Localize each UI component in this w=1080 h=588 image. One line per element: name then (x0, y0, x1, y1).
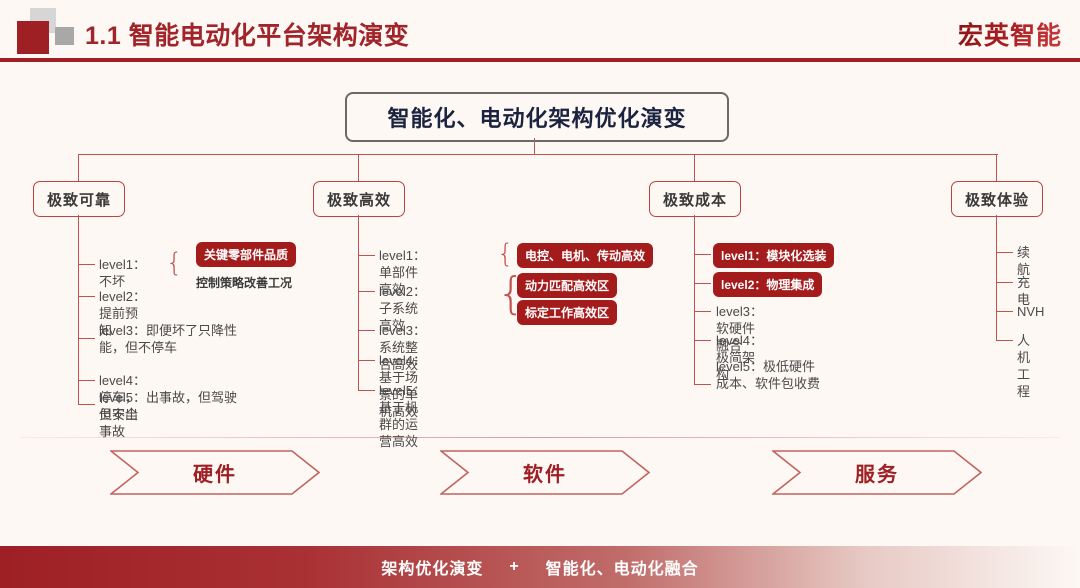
root-node: 智能化、电动化架构优化演变 (345, 92, 729, 142)
col3-tick-2 (694, 283, 711, 284)
col4-item-1: 续航 (1017, 244, 1030, 278)
chevron-software-label: 软件 (440, 450, 650, 495)
col3-stem (694, 215, 695, 241)
col3-spine (694, 241, 695, 385)
slide-header: 1.1 智能电动化平台架构演变 宏英智能 (0, 0, 1080, 62)
connector-drop-1 (78, 154, 79, 181)
col2-stem (358, 215, 359, 241)
col2-badge-2[interactable]: 动力匹配高效区 (517, 273, 617, 298)
category-box-4[interactable]: 极致体验 (951, 181, 1043, 217)
col4-spine (996, 241, 997, 341)
col1-item-3: level3：即便坏了只降性 能，但不停车 (99, 322, 249, 356)
col1-badge-1[interactable]: 关键零部件品质 (196, 242, 296, 267)
decor-square-red (17, 21, 49, 54)
chevron-hardware-label: 硬件 (110, 450, 320, 495)
col1-tick-3 (78, 338, 95, 339)
col1-item-1: level1：不坏 (99, 256, 146, 290)
page-title: 1.1 智能电动化平台架构演变 (85, 16, 409, 52)
col4-tick-1 (996, 252, 1013, 253)
col4-tick-2 (996, 282, 1013, 283)
slide-canvas: 1.1 智能电动化平台架构演变 宏英智能 智能化、电动化架构优化演变 极致可靠 … (0, 0, 1080, 588)
col4-tick-3 (996, 311, 1013, 312)
connector-drop-4 (996, 154, 997, 181)
chevron-hardware[interactable]: 硬件 (110, 450, 320, 495)
col2-tick-3 (358, 330, 375, 331)
slide-footer: 架构优化演变 + 智能化、电动化融合 (0, 546, 1080, 588)
header-divider (0, 58, 1080, 62)
section-divider (20, 437, 1060, 438)
col2-badge-1[interactable]: 电控、电机、传动高效 (517, 243, 653, 268)
chevron-software[interactable]: 软件 (440, 450, 650, 495)
col3-tick-3 (694, 311, 711, 312)
col3-item-3: level5：极低硬件 成本、软件包收费 (716, 358, 876, 392)
category-box-2[interactable]: 极致高效 (313, 181, 405, 217)
col3-badge-1[interactable]: level1：模块化选装 (713, 243, 834, 268)
col3-tick-5 (694, 384, 711, 385)
chevron-service[interactable]: 服务 (772, 450, 982, 495)
col2-brace-icon-1: { (497, 241, 514, 267)
connector-bus (78, 154, 998, 155)
col1-item-5: level5：出事故，但驾驶 员安全 (99, 389, 249, 423)
chevron-service-label: 服务 (772, 450, 982, 495)
connector-root-stem (534, 138, 535, 155)
col4-tick-4 (996, 340, 1013, 341)
connector-drop-3 (694, 154, 695, 181)
company-logo: 宏英智能 (958, 16, 1062, 52)
col2-item-5: level5：基于机群的运营高效 (379, 382, 426, 450)
col3-badge-2[interactable]: level2：物理集成 (713, 272, 822, 297)
col3-tick-1 (694, 254, 711, 255)
col3-tick-4 (694, 340, 711, 341)
footer-left-label: 架构优化演变 (381, 555, 483, 579)
col2-tick-4 (358, 360, 375, 361)
category-box-1[interactable]: 极致可靠 (33, 181, 125, 217)
col2-spine (358, 241, 359, 391)
category-box-3[interactable]: 极致成本 (649, 181, 741, 217)
col1-tick-4 (78, 380, 95, 381)
col2-tick-2 (358, 291, 375, 292)
col2-tick-1 (358, 255, 375, 256)
col4-item-4: 人机工程 (1017, 332, 1030, 400)
col1-stem (78, 215, 79, 241)
col1-tick-2 (78, 296, 95, 297)
col2-badge-3[interactable]: 标定工作高效区 (517, 300, 617, 325)
col4-stem (996, 215, 997, 241)
col1-brace-icon: { (166, 250, 183, 276)
col1-note-1: 控制策略改善工况 (196, 274, 292, 291)
col2-tick-5 (358, 390, 375, 391)
footer-right-label: 智能化、电动化融合 (546, 555, 699, 579)
col1-tick-1 (78, 264, 95, 265)
footer-content: 架构优化演变 + 智能化、电动化融合 (0, 546, 1080, 588)
col4-item-3: NVH (1017, 303, 1044, 320)
connector-drop-2 (358, 154, 359, 181)
footer-plus-sign: + (509, 558, 519, 576)
decor-square-gray-small (55, 27, 74, 45)
col1-tick-5 (78, 404, 95, 405)
